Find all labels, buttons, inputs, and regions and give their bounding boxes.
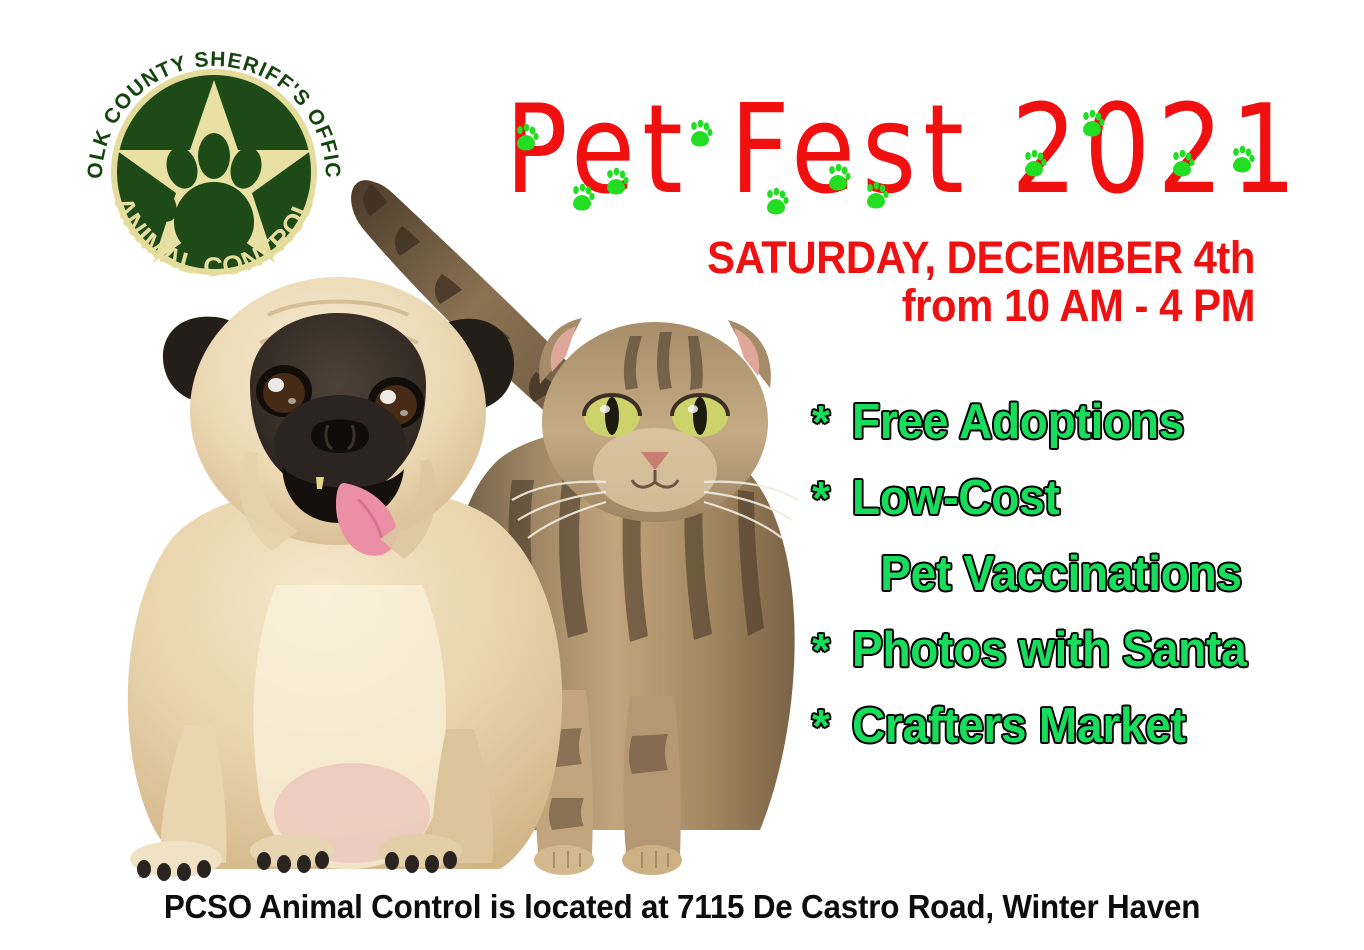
feature-item-free-adoptions: * Free Adoptions [812, 398, 1292, 447]
flyer-title: Pet Fest 2021 [505, 88, 1265, 218]
asterisk-bullet-icon: * [812, 703, 852, 749]
pet-fest-flyer: POLK COUNTY SHERIFF'S OFFICE ANIMAL CONT… [0, 0, 1364, 950]
asterisk-bullet-icon: * [812, 399, 852, 445]
pug-dog-photo [100, 255, 600, 885]
feature-item-low-cost: * Low-Cost [812, 474, 1292, 523]
feature-label: Pet Vaccinations [852, 550, 1242, 599]
pug-paw-left [130, 841, 222, 881]
asterisk-bullet-icon: * [812, 627, 852, 673]
pug-nose [311, 420, 369, 454]
cat-front-leg-right [623, 696, 680, 854]
feature-label: Crafters Market [852, 702, 1186, 751]
asterisk-bullet-icon: * [812, 475, 852, 521]
cat-eye-right [672, 395, 728, 437]
feature-item-photos-with-santa: * Photos with Santa [812, 626, 1292, 675]
event-date-time: SATURDAY, DECEMBER 4th from 10 AM - 4 PM [655, 235, 1255, 329]
location-footer: PCSO Animal Control is located at 7115 D… [34, 888, 1330, 926]
pug-paw-center-right [378, 834, 462, 873]
event-time: from 10 AM - 4 PM [697, 282, 1255, 330]
feature-item-pet-vaccinations: Pet Vaccinations [812, 550, 1292, 599]
title-text: Pet Fest 2021 [505, 88, 1265, 211]
event-date: SATURDAY, DECEMBER 4th [697, 235, 1255, 282]
pug-paw-center-left [250, 834, 334, 873]
feature-label: Free Adoptions [852, 398, 1184, 447]
event-features-list: * Free Adoptions * Low-Cost Pet Vaccinat… [812, 398, 1292, 778]
cat-paw-right [622, 845, 682, 875]
feature-label: Low-Cost [852, 474, 1060, 523]
feature-item-crafters-market: * Crafters Market [812, 702, 1292, 751]
feature-label: Photos with Santa [852, 626, 1246, 675]
